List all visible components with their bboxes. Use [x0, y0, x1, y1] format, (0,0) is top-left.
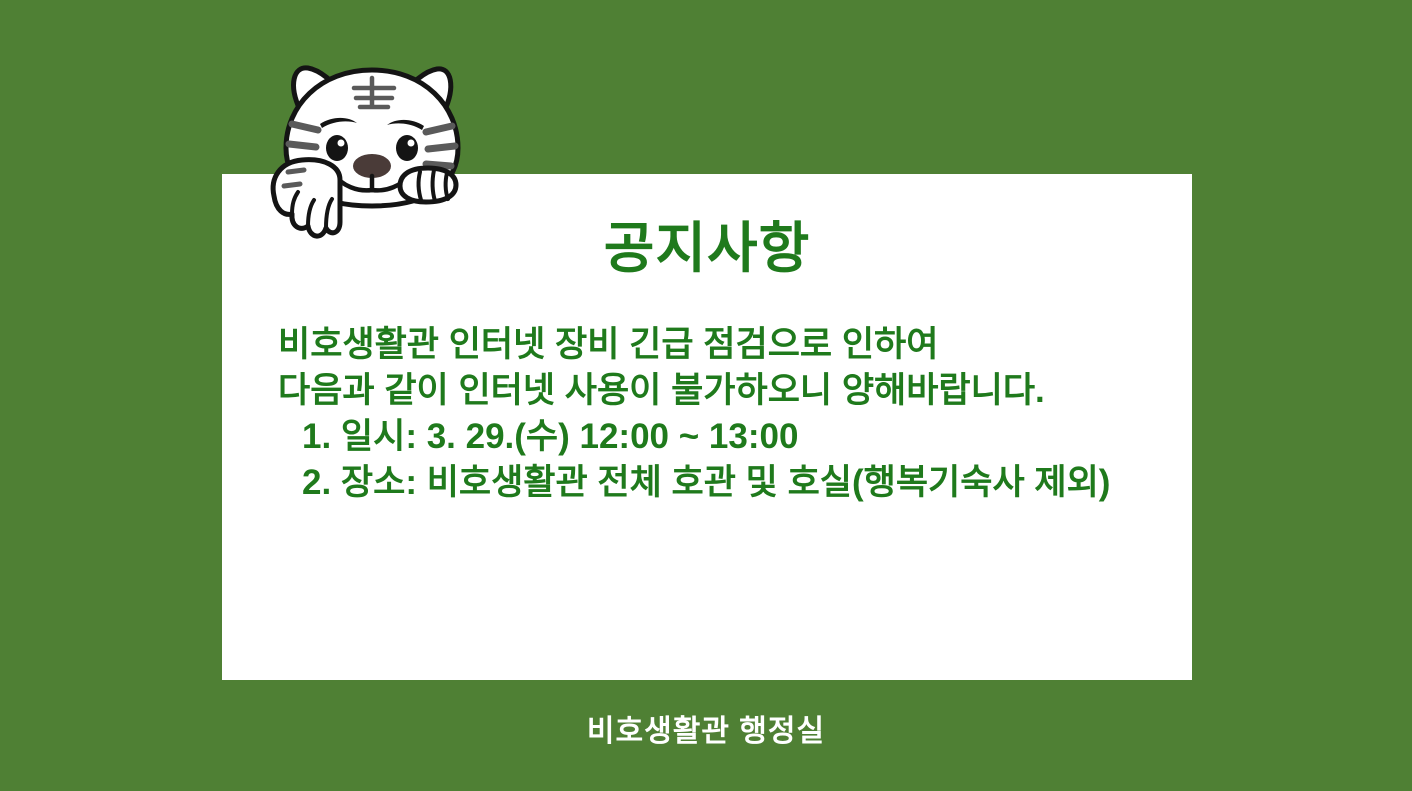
tiger-left-eye	[326, 135, 348, 161]
notice-card: 공지사항 비호생활관 인터넷 장비 긴급 점검으로 인하여 다음과 같이 인터넷…	[222, 174, 1192, 680]
notice-line-1: 비호생활관 인터넷 장비 긴급 점검으로 인하여	[278, 322, 1178, 368]
notice-poster: 공지사항 비호생활관 인터넷 장비 긴급 점검으로 인하여 다음과 같이 인터넷…	[0, 0, 1412, 791]
footer-office-name: 비호생활관 행정실	[0, 706, 1412, 750]
tiger-left-paw	[273, 160, 340, 236]
notice-line-2: 다음과 같이 인터넷 사용이 불가하오니 양해바랍니다.	[278, 368, 1178, 414]
notice-line-4: 2. 장소: 비호생활관 전체 호관 및 호실(행복기숙사 제외)	[278, 460, 1178, 506]
tiger-right-eye-glint	[408, 140, 415, 147]
notice-body: 비호생활관 인터넷 장비 긴급 점검으로 인하여 다음과 같이 인터넷 사용이 …	[278, 322, 1178, 506]
white-tiger-mascot-icon	[258, 50, 488, 240]
tiger-right-paw	[400, 168, 456, 202]
notice-line-3: 1. 일시: 3. 29.(수) 12:00 ~ 13:00	[278, 414, 1178, 460]
tiger-right-eye	[396, 135, 418, 161]
tiger-left-eye-glint	[338, 140, 345, 147]
